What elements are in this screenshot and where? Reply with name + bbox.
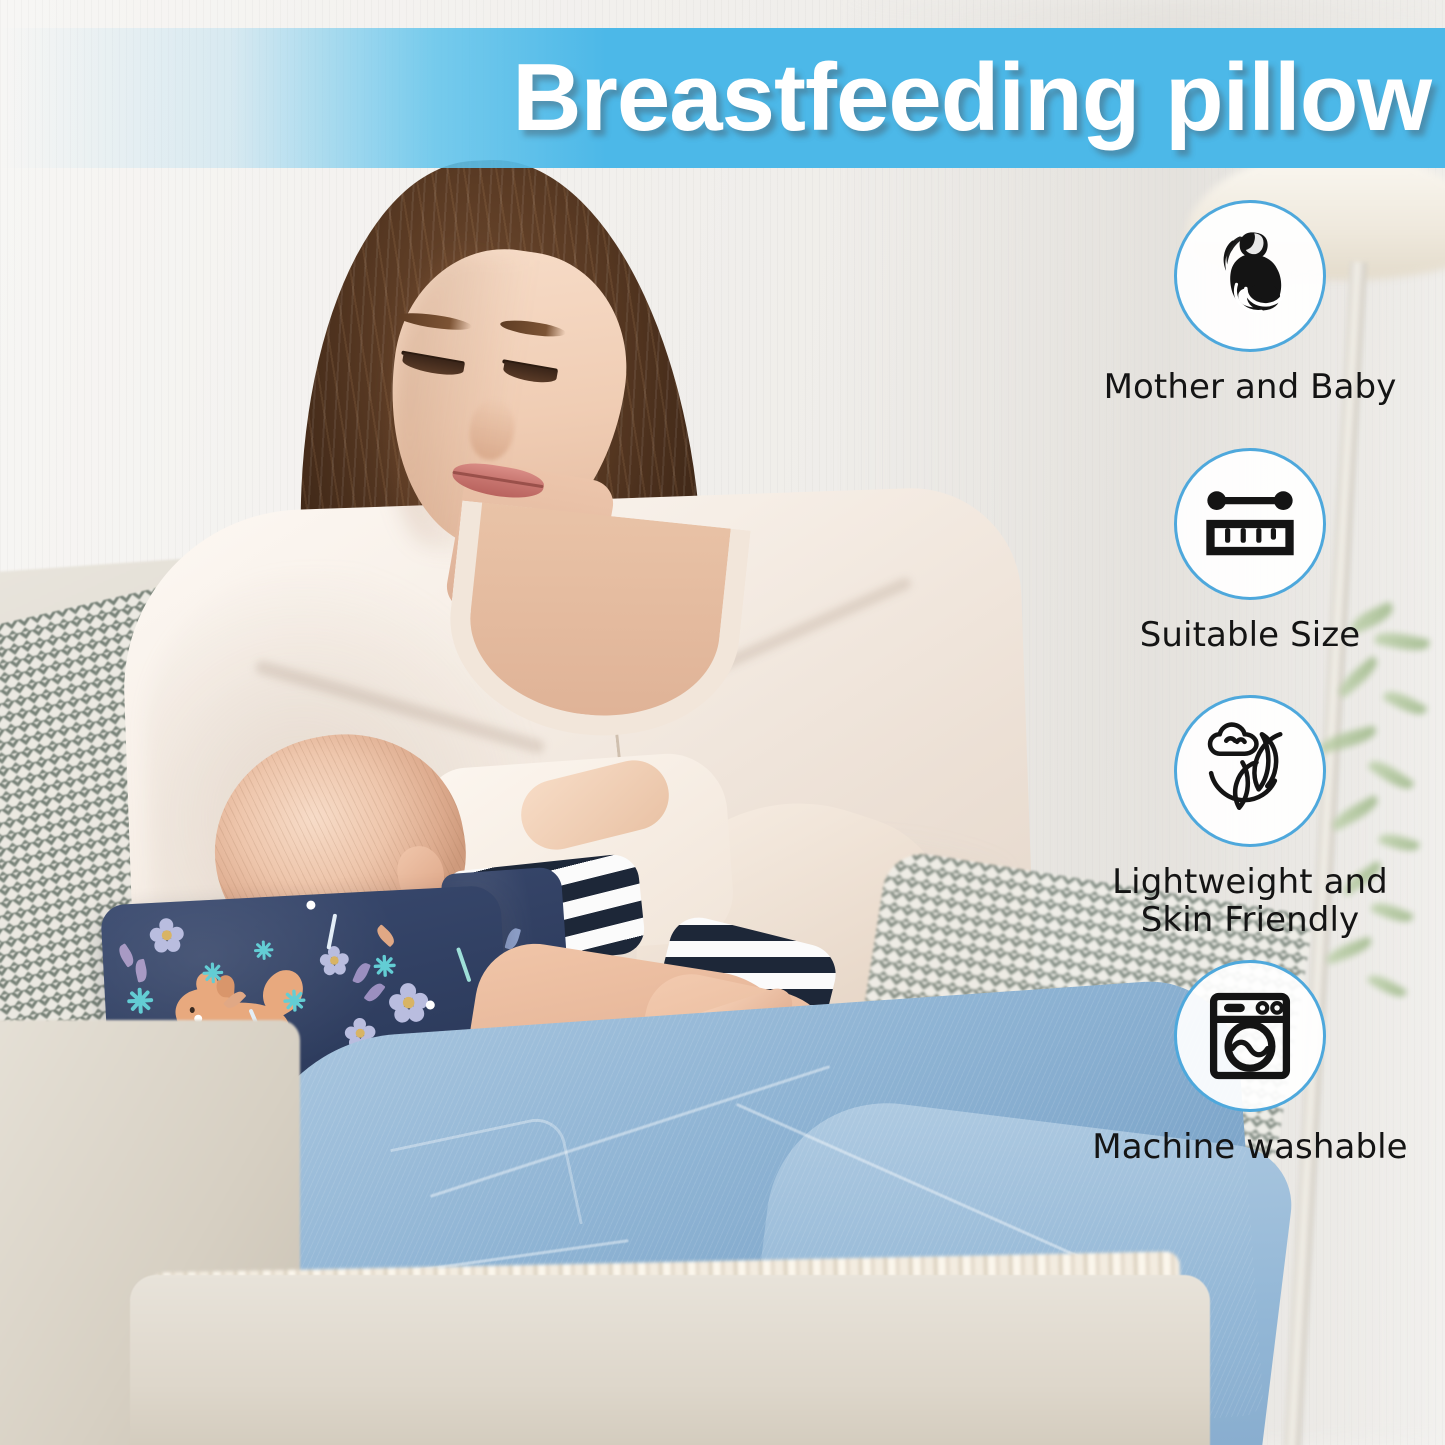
cloud-feather-icon <box>1196 717 1304 825</box>
feature-suitable-size[interactable]: Suitable Size <box>1055 448 1445 654</box>
feature-machine-washable[interactable]: Machine washable <box>1055 960 1445 1166</box>
feature-icon-circle <box>1174 200 1326 352</box>
feature-label: Machine washable <box>1092 1128 1407 1166</box>
feature-list: Mother and Baby Suit <box>1055 200 1445 1166</box>
feature-icon-circle <box>1174 960 1326 1112</box>
product-marketing-image: Breastfeeding pillow <box>0 0 1445 1445</box>
feature-label: Lightweight andSkin Friendly <box>1112 863 1388 940</box>
sofa-seat <box>130 1275 1210 1445</box>
mother-and-baby-icon <box>1198 224 1302 328</box>
feature-icon-circle <box>1174 695 1326 847</box>
feature-lightweight-skin-friendly[interactable]: Lightweight andSkin Friendly <box>1055 695 1445 940</box>
daisy-motif <box>202 962 224 984</box>
ruler-measure-icon <box>1198 472 1302 576</box>
feature-label: Suitable Size <box>1140 616 1361 654</box>
feature-icon-circle <box>1174 448 1326 600</box>
daisy-motif <box>283 989 306 1012</box>
feature-mother-and-baby[interactable]: Mother and Baby <box>1055 200 1445 406</box>
daisy-motif <box>253 940 273 960</box>
daisy-motif <box>373 954 396 977</box>
daisy-motif <box>127 987 154 1014</box>
page-title: Breastfeeding pillow <box>0 28 1445 168</box>
washing-machine-icon <box>1198 984 1302 1088</box>
feature-label: Mother and Baby <box>1104 368 1397 406</box>
